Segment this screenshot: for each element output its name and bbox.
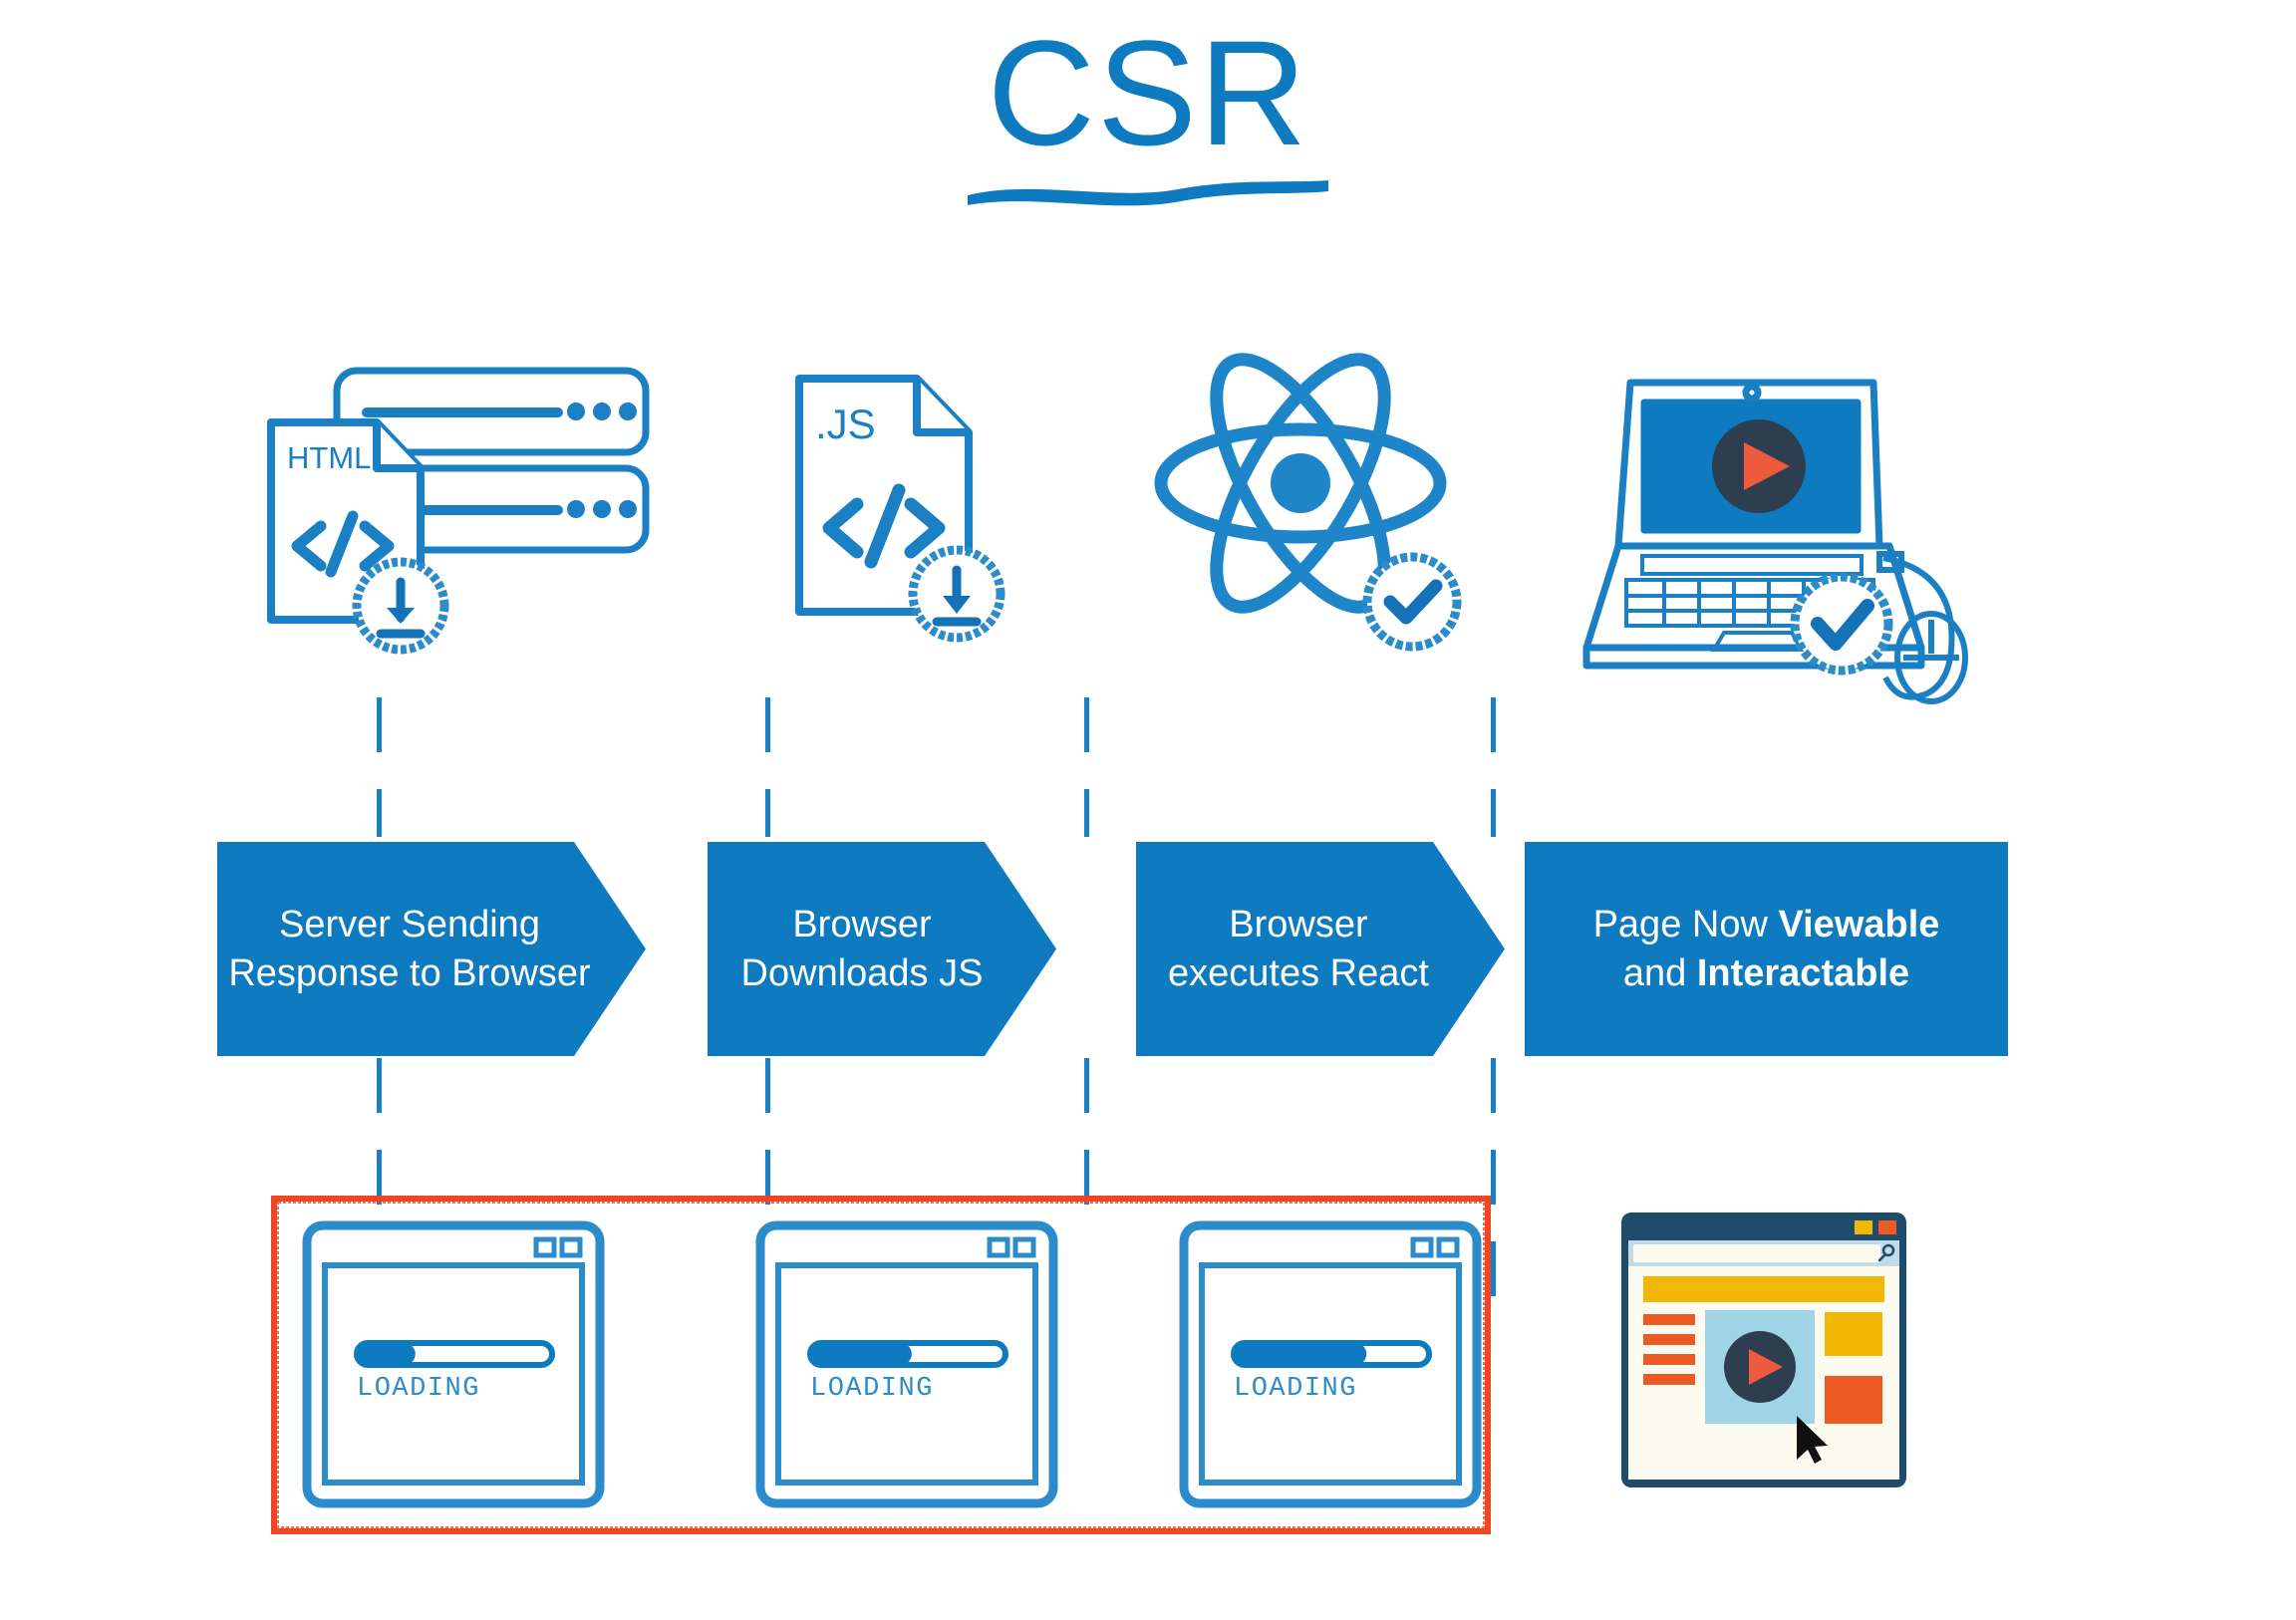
loading-label-2: LOADING xyxy=(810,1374,934,1404)
connector-line-4-bottom xyxy=(1491,1058,1496,1317)
connector-line-3-top xyxy=(1084,697,1089,837)
connector-line-1-bottom xyxy=(377,1058,382,1206)
connector-line-2-bottom xyxy=(765,1058,770,1206)
banner-4-line2-plain: and xyxy=(1623,952,1697,994)
banner-1-line1: Server Sending xyxy=(279,904,540,945)
html-label: HTML xyxy=(287,440,371,475)
banner-2-line2: Downloads JS xyxy=(741,952,984,994)
banner-1-line2: Response to Browser xyxy=(228,952,590,994)
banner-2-line1: Browser xyxy=(792,904,931,945)
window-button-orange xyxy=(1878,1220,1896,1234)
rendered-page-browser[interactable] xyxy=(1619,1211,1908,1489)
diagram-canvas: CSR HTML xyxy=(0,0,2296,1620)
banner-server-sending[interactable]: Server Sending Response to Browser xyxy=(217,842,646,1056)
loading-window-2: LOADING xyxy=(752,1217,1061,1511)
page-title-block: CSR xyxy=(0,18,2296,207)
connector-line-3-bottom xyxy=(1084,1058,1089,1206)
js-label: .JS xyxy=(815,401,876,447)
loading-window-3: LOADING xyxy=(1176,1217,1485,1511)
connector-line-4-top xyxy=(1491,697,1496,837)
banner-4-line1-bold: Viewable xyxy=(1778,904,1939,945)
loading-label-3: LOADING xyxy=(1234,1374,1357,1404)
react-atom-icon xyxy=(1151,329,1470,668)
laptop-icon xyxy=(1575,359,1993,727)
process-banner-row: Server Sending Response to Browser Brows… xyxy=(0,842,2296,1056)
download-badge xyxy=(913,550,1001,638)
window-button-yellow xyxy=(1855,1220,1872,1234)
check-badge xyxy=(1367,557,1457,647)
banner-browser-downloads-js[interactable]: Browser Downloads JS xyxy=(708,842,1056,1056)
banner-browser-executes-react[interactable]: Browser executes React xyxy=(1136,842,1505,1056)
banner-3-line2: executes React xyxy=(1168,952,1429,994)
connector-line-2-top xyxy=(765,697,770,837)
js-file-icon: .JS xyxy=(787,367,1036,675)
download-badge xyxy=(357,562,444,650)
server-html-icon: HTML xyxy=(249,357,678,685)
loading-label-1: LOADING xyxy=(357,1374,480,1404)
banner-3-line1: Browser xyxy=(1229,904,1367,945)
page-title: CSR xyxy=(0,18,2296,167)
connector-line-1-top xyxy=(377,697,382,837)
loading-window-1: LOADING xyxy=(299,1217,608,1511)
page-banner xyxy=(1643,1276,1884,1302)
title-underline-swoosh xyxy=(964,173,1332,207)
check-badge xyxy=(1795,577,1888,671)
banner-page-viewable-interactable[interactable]: Page Now Viewable and Interactable xyxy=(1525,842,2008,1056)
banner-4-line2-bold: Interactable xyxy=(1697,952,1909,994)
banner-4-line1-plain: Page Now xyxy=(1593,904,1779,945)
